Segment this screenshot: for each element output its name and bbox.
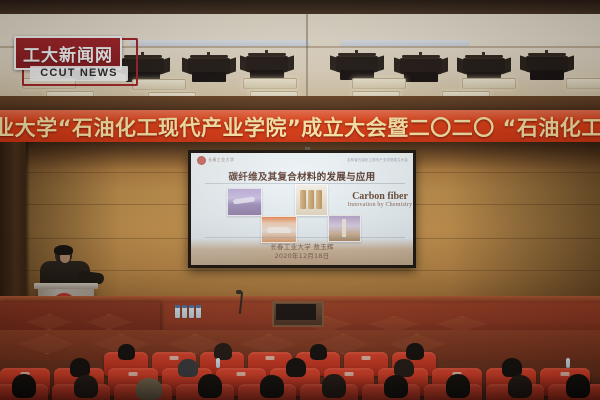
water-bottles — [175, 305, 201, 318]
projection-screen: 长春工业大学 吉林省石油化工现代产业学院成立大会 碳纤维及其复合材料的发展与应用… — [191, 153, 413, 265]
wall-right-shade — [450, 142, 600, 300]
ceiling-panel-light — [352, 78, 406, 89]
ceiling-panel-light — [566, 78, 600, 89]
left-column-shadow — [26, 142, 30, 302]
ceiling-panel-light — [243, 78, 297, 89]
speaker-hair — [54, 245, 73, 255]
audience-area — [0, 330, 600, 400]
audience-member — [118, 344, 135, 360]
news-watermark: 工大新闻网 CCUT NEWS — [14, 36, 136, 82]
banner-text: 春工业大学“石油化工现代产业学院”成立大会暨二〇二〇 “石油化工校企 — [0, 112, 600, 142]
water-bottle — [182, 305, 187, 318]
watermark-chinese-label: 工大新闻网 — [23, 41, 113, 66]
projection-screen-frame: 长春工业大学 吉林省石油化工现代产业学院成立大会 碳纤维及其复合材料的发展与应用… — [188, 150, 416, 268]
foreground-shadow — [0, 374, 600, 400]
ceiling-panel-light — [132, 79, 186, 90]
audience-water-bottle — [216, 358, 220, 368]
ceiling-seam — [306, 14, 308, 98]
watermark-english-label: CCUT NEWS — [32, 67, 126, 79]
podium-top — [34, 283, 98, 289]
microphone-head-icon — [236, 290, 242, 294]
table-monitor-screen — [276, 304, 316, 320]
screen-glare — [191, 153, 413, 265]
left-wall-column — [0, 142, 26, 302]
event-banner: 春工业大学“石油化工现代产业学院”成立大会暨二〇二〇 “石油化工校企 — [0, 110, 600, 144]
water-bottle — [196, 305, 201, 318]
water-bottle — [175, 305, 180, 318]
audience-member — [310, 344, 327, 360]
water-bottle — [189, 305, 194, 318]
watermark-logo-box: 工大新闻网 — [14, 36, 122, 70]
ceiling-dark-strip — [0, 0, 600, 14]
audience-water-bottle — [566, 358, 570, 368]
audience-member — [406, 343, 424, 360]
ceiling-panel-light — [462, 78, 516, 89]
ceiling-spotlight — [180, 52, 238, 86]
photo-canvas: 春工业大学“石油化工现代产业学院”成立大会暨二〇二〇 “石油化工校企 长春工业大… — [0, 0, 600, 400]
